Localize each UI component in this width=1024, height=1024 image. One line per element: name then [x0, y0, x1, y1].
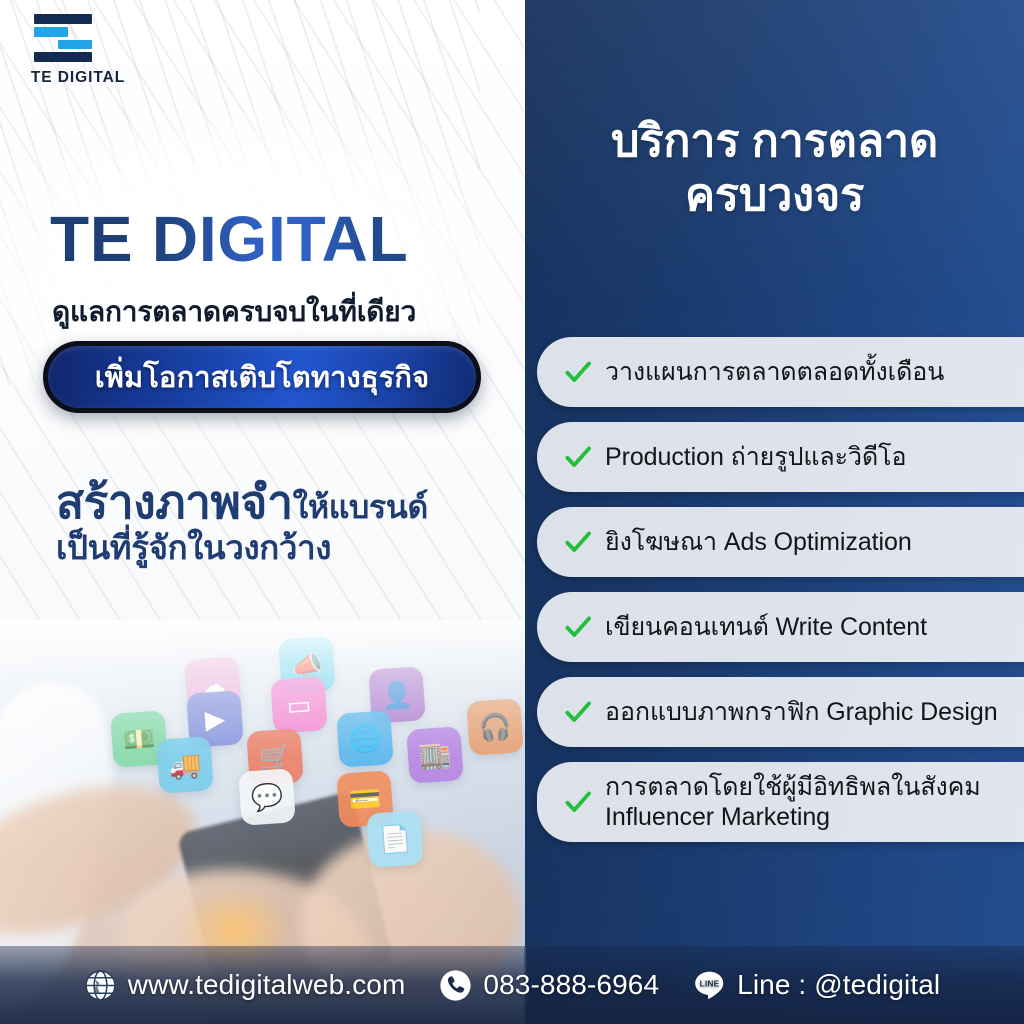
services-heading-line1: บริการ การตลาด: [611, 115, 938, 166]
marketing-poster: TE DIGITAL TE DIGITAL ดูแลการตลาดครบจบใน…: [0, 0, 1024, 1024]
green-check-icon: [561, 355, 595, 389]
logo-bar-top: [34, 14, 92, 24]
cta-button-label: เพิ่มโอกาสเติบโตทางธุรกิจ: [95, 354, 430, 400]
list-item-label: วางแผนการตลาดตลอดทั้งเดือน: [605, 357, 944, 387]
headline-brand-image-small: ให้แบรนด์: [293, 489, 428, 525]
globe-icon: [84, 969, 117, 1002]
headline-brand-image-line2: เป็นที่รู้จักในวงกว้าง: [56, 521, 331, 574]
list-item-label: Production ถ่ายรูปและวิดีโอ: [605, 442, 906, 472]
contact-line[interactable]: LINE Line : @tedigital: [693, 969, 940, 1002]
contact-website[interactable]: www.tedigitalweb.com: [84, 969, 406, 1002]
list-item-label: ออกแบบภาพกราฟิก Graphic Design: [605, 697, 998, 727]
svg-text:LINE: LINE: [700, 978, 720, 988]
list-item[interactable]: ออกแบบภาพกราฟิก Graphic Design: [537, 677, 1024, 747]
page-subtitle: ดูแลการตลาดครบจบในที่เดียว: [52, 290, 512, 334]
left-panel: TE DIGITAL TE DIGITAL ดูแลการตลาดครบจบใน…: [0, 0, 525, 1024]
te-digital-bars-logo-icon: [34, 14, 92, 62]
list-item[interactable]: ยิงโฆษณา Ads Optimization: [537, 507, 1024, 577]
logo-bar-bottom: [34, 52, 92, 62]
cta-button[interactable]: เพิ่มโอกาสเติบโตทางธุรกิจ: [43, 341, 481, 413]
line-icon: LINE: [693, 969, 726, 1002]
green-check-icon: [561, 695, 595, 729]
list-item-label: การตลาดโดยใช้ผู้มีอิทธิพลในสังคม Influen…: [605, 772, 981, 832]
list-item[interactable]: Production ถ่ายรูปและวิดีโอ: [537, 422, 1024, 492]
contact-phone-label: 083-888-6964: [483, 969, 659, 1001]
logo-bar-lower-accent: [58, 40, 92, 50]
list-item-label: เขียนคอนเทนต์ Write Content: [605, 612, 927, 642]
list-item[interactable]: วางแผนการตลาดตลอดทั้งเดือน: [537, 337, 1024, 407]
services-heading-line2: ครบวงจร: [525, 168, 1024, 222]
contact-line-label: Line : @tedigital: [737, 969, 940, 1001]
list-item[interactable]: เขียนคอนเทนต์ Write Content: [537, 592, 1024, 662]
green-check-icon: [561, 440, 595, 474]
list-item[interactable]: การตลาดโดยใช้ผู้มีอิทธิพลในสังคม Influen…: [537, 762, 1024, 842]
services-heading: บริการ การตลาด ครบวงจร: [525, 114, 1024, 223]
services-list: วางแผนการตลาดตลอดทั้งเดือน Production ถ่…: [537, 337, 1024, 857]
phone-icon: [439, 969, 472, 1002]
brand-logo: TE DIGITAL: [8, 14, 148, 87]
right-panel: บริการ การตลาด ครบวงจร วางแผนการตลาดตลอด…: [525, 0, 1024, 1024]
cta-button-wrapper: เพิ่มโอกาสเติบโตทางธุรกิจ: [43, 341, 481, 413]
page-title: TE DIGITAL: [50, 207, 500, 271]
contact-footer: www.tedigitalweb.com 083-888-6964 LINE L…: [0, 946, 1024, 1024]
contact-website-label: www.tedigitalweb.com: [128, 969, 406, 1001]
green-check-icon: [561, 785, 595, 819]
logo-wordmark: TE DIGITAL: [8, 69, 148, 87]
contact-phone[interactable]: 083-888-6964: [439, 969, 659, 1002]
green-check-icon: [561, 525, 595, 559]
green-check-icon: [561, 610, 595, 644]
list-item-label: ยิงโฆษณา Ads Optimization: [605, 527, 912, 557]
logo-bar-upper-accent: [34, 27, 68, 37]
